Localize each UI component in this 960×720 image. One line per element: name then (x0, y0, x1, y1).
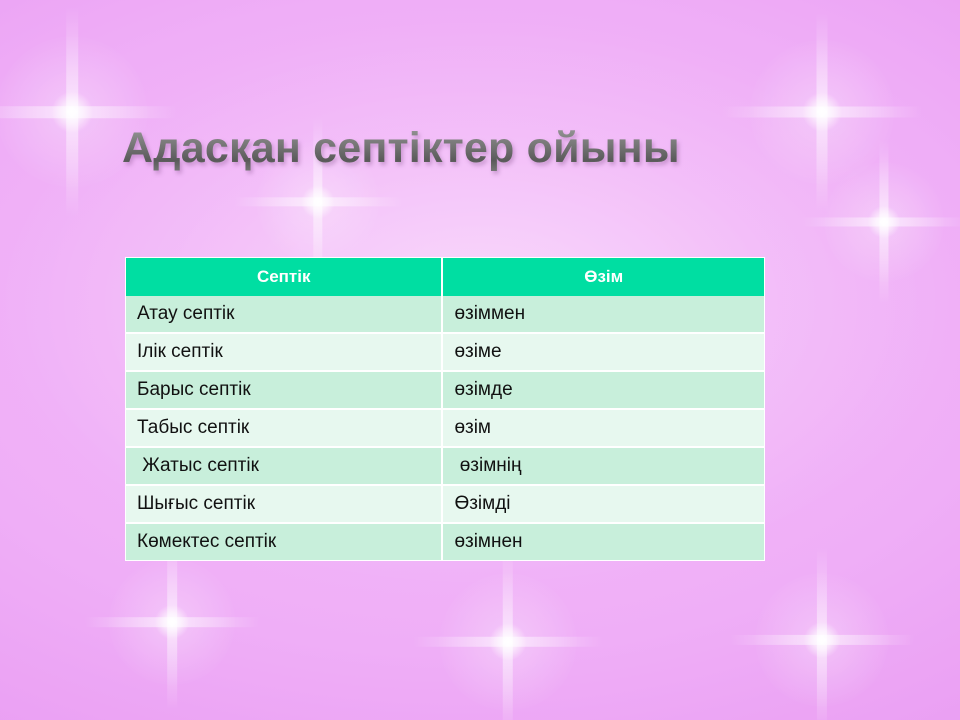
sparkle-halo (750, 40, 894, 184)
cell-ozim: өзім (442, 409, 764, 447)
table-row: Барыс септікөзімде (126, 371, 764, 409)
sparkle-ray-vertical (879, 140, 888, 305)
sparkle-ray-horizontal (802, 217, 960, 226)
table-body: Атау септікөзімменІлік септікөзімеБарыс … (126, 296, 764, 560)
table-row: Көмектес септікөзімнен (126, 523, 764, 560)
cell-ozim: өзіме (442, 333, 764, 371)
sparkle-top-left-icon (0, 7, 177, 217)
cell-septik: Жатыс септік (126, 447, 442, 485)
sparkle-ray-horizontal (413, 637, 603, 647)
column-header-septik: Септік (126, 258, 442, 296)
table-header: Септік Өзім (126, 258, 764, 296)
sparkle-halo (109, 559, 235, 685)
column-header-ozim: Өзім (442, 258, 764, 296)
cell-septik: Атау септік (126, 296, 442, 333)
table-row: Ілік септікөзіме (126, 333, 764, 371)
sparkle-top-right-icon (722, 12, 922, 212)
sparkle-core (868, 206, 901, 239)
slide-canvas: Адасқан септіктер ойыны Септік Өзім Атау… (0, 0, 960, 720)
cell-ozim: өзімнен (442, 523, 764, 560)
table-row: Атау септікөзіммен (126, 296, 764, 333)
cell-septik: Шығыс септік (126, 485, 442, 523)
sparkle-ray-horizontal (730, 635, 915, 645)
sparkle-halo (755, 573, 888, 706)
sparkle-halo (825, 163, 944, 282)
table-row: Шығыс септікӨзімді (126, 485, 764, 523)
table-header-row: Септік Өзім (126, 258, 764, 296)
sparkle-mid-right-icon (802, 140, 960, 305)
cell-ozim: өзіммен (442, 296, 764, 333)
sparkle-core (802, 92, 842, 132)
sparkle-ray-horizontal (0, 106, 177, 118)
table-row: Табыс септікөзім (126, 409, 764, 447)
cell-ozim: өзімнің (442, 447, 764, 485)
sparkle-core (155, 605, 190, 640)
sparkle-ray-vertical (817, 548, 827, 720)
sparkle-ray-vertical (66, 7, 78, 217)
sparkle-bottom-center-icon (413, 547, 603, 720)
sparkle-ray-vertical (817, 12, 828, 212)
table-row: Жатыс септік өзімнің (126, 447, 764, 485)
sparkle-ray-horizontal (722, 107, 922, 118)
sparkle-bottom-right-icon (730, 548, 915, 720)
cell-ozim: өзімде (442, 371, 764, 409)
sparkle-core (51, 91, 93, 133)
sparkle-ray-horizontal (85, 617, 260, 627)
septik-table-container: Септік Өзім Атау септікөзімменІлік септі… (125, 257, 765, 561)
cell-septik: Ілік септік (126, 333, 442, 371)
sparkle-ray-vertical (503, 547, 513, 720)
cell-septik: Көмектес септік (126, 523, 442, 560)
sparkle-core (301, 185, 335, 219)
cell-septik: Табыс септік (126, 409, 442, 447)
sparkle-core (804, 622, 841, 659)
sparkle-ray-horizontal (233, 197, 403, 206)
cell-septik: Барыс септік (126, 371, 442, 409)
septik-table: Септік Өзім Атау септікөзімменІлік септі… (126, 258, 764, 560)
page-title: Адасқан септіктер ойыны (122, 124, 680, 173)
sparkle-halo (440, 574, 577, 711)
sparkle-core (489, 623, 527, 661)
cell-ozim: Өзімді (442, 485, 764, 523)
